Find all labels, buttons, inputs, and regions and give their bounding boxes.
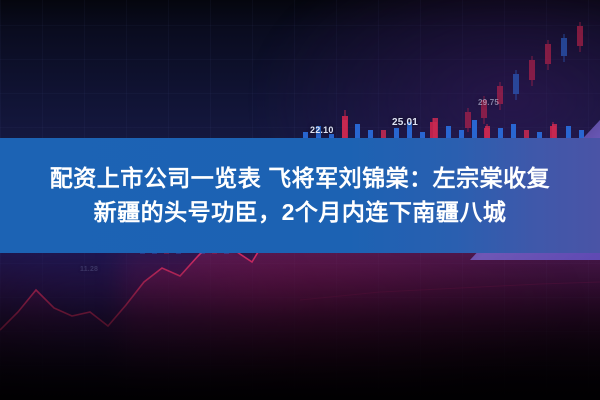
headline-line-1: 配资上市公司一览表 飞将军刘锦棠：左宗棠收复 <box>50 166 550 191</box>
label-11-28: 11.28 <box>80 266 98 273</box>
candlestick-series <box>465 22 583 132</box>
label-25-01: 25.01 <box>392 118 418 128</box>
banner-image: 22.10 25.01 29.75 18.75 10.07 11.28 配资上市… <box>0 0 600 400</box>
headline-line-2: 新疆的头号功臣，2个月内连下南疆八城 <box>94 200 507 225</box>
headline-text: 配资上市公司一览表 飞将军刘锦棠：左宗棠收复 新疆的头号功臣，2个月内连下南疆八… <box>0 138 600 253</box>
volume-bars <box>303 118 584 140</box>
label-22-10: 22.10 <box>310 126 334 135</box>
label-29-75: 29.75 <box>478 99 499 107</box>
